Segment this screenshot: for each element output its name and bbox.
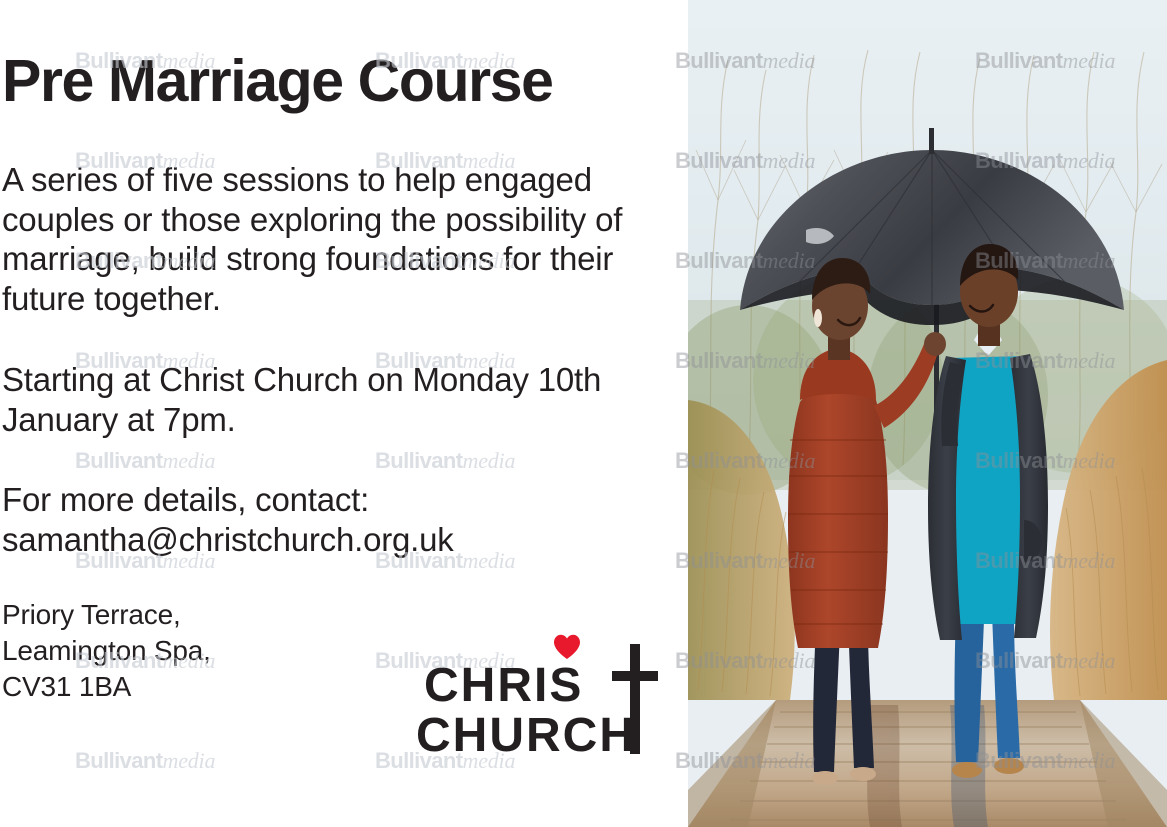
poster-canvas: Pre Marriage Course A series of five ses… bbox=[0, 0, 1167, 827]
contact-info: For more details, contact: samantha@chri… bbox=[2, 480, 674, 559]
page-title: Pre Marriage Course bbox=[2, 52, 553, 111]
intro-paragraph: A series of five sessions to help engage… bbox=[2, 160, 674, 318]
logo-word-christ: CHRIS bbox=[424, 662, 583, 710]
christ-church-logo: CHRIS CHURCH bbox=[416, 632, 656, 764]
address-line-2: Leamington Spa, bbox=[2, 633, 402, 669]
text-column: Pre Marriage Course A series of five ses… bbox=[0, 0, 688, 827]
photo-illustration bbox=[688, 0, 1167, 827]
couple-umbrella-photo bbox=[688, 0, 1167, 827]
address-line-3: CV31 1BA bbox=[2, 669, 402, 705]
address-line-1: Priory Terrace, bbox=[2, 597, 402, 633]
heart-icon bbox=[553, 634, 581, 660]
address-block: Priory Terrace, Leamington Spa, CV31 1BA bbox=[2, 597, 402, 705]
starting-info: Starting at Christ Church on Monday 10th… bbox=[2, 360, 662, 439]
cross-horizontal-bar bbox=[612, 671, 658, 681]
cross-vertical-bar bbox=[630, 644, 640, 754]
logo-word-church: CHURCH bbox=[416, 712, 636, 760]
cross-icon bbox=[612, 644, 658, 754]
